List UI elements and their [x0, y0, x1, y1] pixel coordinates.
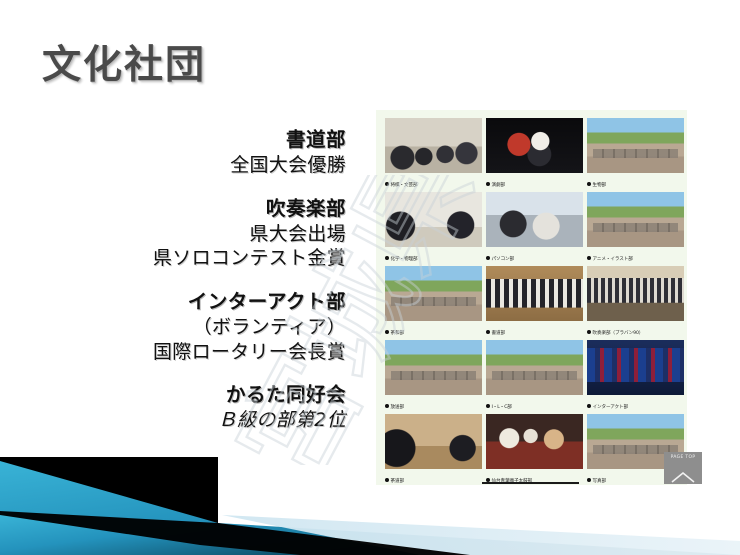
bullet-icon [587, 404, 591, 408]
bullet-icon [385, 256, 389, 260]
photo-image [385, 118, 482, 173]
photo-image [587, 266, 684, 321]
photo-caption: アニメ・イラスト部 [587, 256, 633, 263]
club-name: 書道部 [10, 128, 346, 153]
photo-image [385, 266, 482, 321]
photo-thumbnail[interactable]: 演劇部 [486, 118, 583, 190]
club-achievements-list: 書道部全国大会優勝吹奏楽部県大会出場県ソロコンテスト金賞インターアクト部（ボラン… [10, 128, 346, 452]
bullet-icon [587, 330, 591, 334]
photo-image [486, 192, 583, 247]
bullet-icon [486, 330, 490, 334]
photo-caption: 将棋・文芸部 [385, 182, 417, 189]
bullet-icon [587, 256, 591, 260]
club-block: かるた同好会Ｂ級の部第2位 [10, 383, 346, 433]
photo-caption-text: アニメ・イラスト部 [593, 257, 633, 262]
photo-thumbnail[interactable]: パソコン部 [486, 192, 583, 264]
photo-image [587, 192, 684, 247]
photo-caption: 茶和部 [385, 330, 404, 337]
photo-caption-text: 吹奏楽部（ブラバン90） [593, 331, 644, 336]
photo-thumbnail[interactable]: 書道部 [486, 266, 583, 338]
photo-thumbnail[interactable]: 茶和部 [385, 266, 482, 338]
photo-thumbnail-grid: 将棋・文芸部演劇部生物部化学・物理部パソコン部アニメ・イラスト部茶和部書道部吹奏… [385, 118, 684, 485]
bullet-icon [385, 404, 389, 408]
club-achievement-line: 国際ロータリー会長賞 [10, 340, 346, 365]
photo-image [587, 340, 684, 395]
photo-caption: 化学・物理部 [385, 256, 417, 263]
bullet-icon [587, 182, 591, 186]
bullet-icon [486, 182, 490, 186]
photo-caption: 生物部 [587, 182, 606, 189]
bullet-icon [385, 182, 389, 186]
club-name: インターアクト部 [10, 290, 346, 315]
bullet-icon [486, 256, 490, 260]
club-block: 吹奏楽部県大会出場県ソロコンテスト金賞 [10, 197, 346, 271]
photo-caption: I・L・C部 [486, 404, 512, 411]
slide-decoration-bands [0, 445, 740, 555]
photo-caption-text: 演劇部 [492, 183, 505, 188]
photo-caption-text: I・L・C部 [492, 405, 512, 410]
photo-image [486, 340, 583, 395]
photo-caption: 書道部 [486, 330, 505, 337]
photo-thumbnail[interactable]: 化学・物理部 [385, 192, 482, 264]
photo-thumbnail[interactable]: 放送部 [385, 340, 482, 412]
photo-thumbnail[interactable]: インターアクト部 [587, 340, 684, 412]
club-achievement-line: 県ソロコンテスト金賞 [10, 246, 346, 271]
photo-thumbnail[interactable]: 吹奏楽部（ブラバン90） [587, 266, 684, 338]
photo-caption-text: 生物部 [593, 183, 606, 188]
photo-caption: 放送部 [385, 404, 404, 411]
photo-thumbnail[interactable]: 将棋・文芸部 [385, 118, 482, 190]
photo-thumbnail[interactable]: アニメ・イラスト部 [587, 192, 684, 264]
club-name: かるた同好会 [10, 383, 346, 408]
club-photo-panel: 将棋・文芸部演劇部生物部化学・物理部パソコン部アニメ・イラスト部茶和部書道部吹奏… [376, 110, 687, 485]
presentation-slide: 宮城県 文化社団 書道部全国大会優勝吹奏楽部県大会出場県ソロコンテスト金賞インタ… [0, 0, 740, 555]
photo-caption-text: 書道部 [492, 331, 505, 336]
photo-thumbnail[interactable]: 生物部 [587, 118, 684, 190]
photo-thumbnail[interactable]: I・L・C部 [486, 340, 583, 412]
club-achievement-line: Ｂ級の部第2位 [10, 408, 346, 433]
photo-caption-text: パソコン部 [492, 257, 514, 262]
photo-caption: 演劇部 [486, 182, 505, 189]
club-achievement-line: 全国大会優勝 [10, 153, 346, 178]
photo-caption-text: 将棋・文芸部 [391, 183, 418, 188]
bullet-icon [385, 330, 389, 334]
club-block: 書道部全国大会優勝 [10, 128, 346, 178]
photo-caption: パソコン部 [486, 256, 514, 263]
club-name: 吹奏楽部 [10, 197, 346, 222]
page-title: 文化社団 [42, 34, 206, 90]
photo-image [486, 118, 583, 173]
club-block: インターアクト部（ボランティア）国際ロータリー会長賞 [10, 290, 346, 364]
photo-caption-text: 化学・物理部 [391, 257, 418, 262]
photo-image [385, 340, 482, 395]
photo-caption-text: 放送部 [391, 405, 404, 410]
photo-image [385, 192, 482, 247]
photo-image [587, 118, 684, 173]
photo-image [486, 266, 583, 321]
photo-caption-text: 茶和部 [391, 331, 404, 336]
bullet-icon [486, 404, 490, 408]
club-achievement-line: 県大会出場 [10, 222, 346, 247]
photo-caption: インターアクト部 [587, 404, 628, 411]
photo-caption-text: インターアクト部 [593, 405, 629, 410]
photo-caption: 吹奏楽部（ブラバン90） [587, 330, 643, 337]
club-achievement-line: （ボランティア） [10, 315, 346, 340]
